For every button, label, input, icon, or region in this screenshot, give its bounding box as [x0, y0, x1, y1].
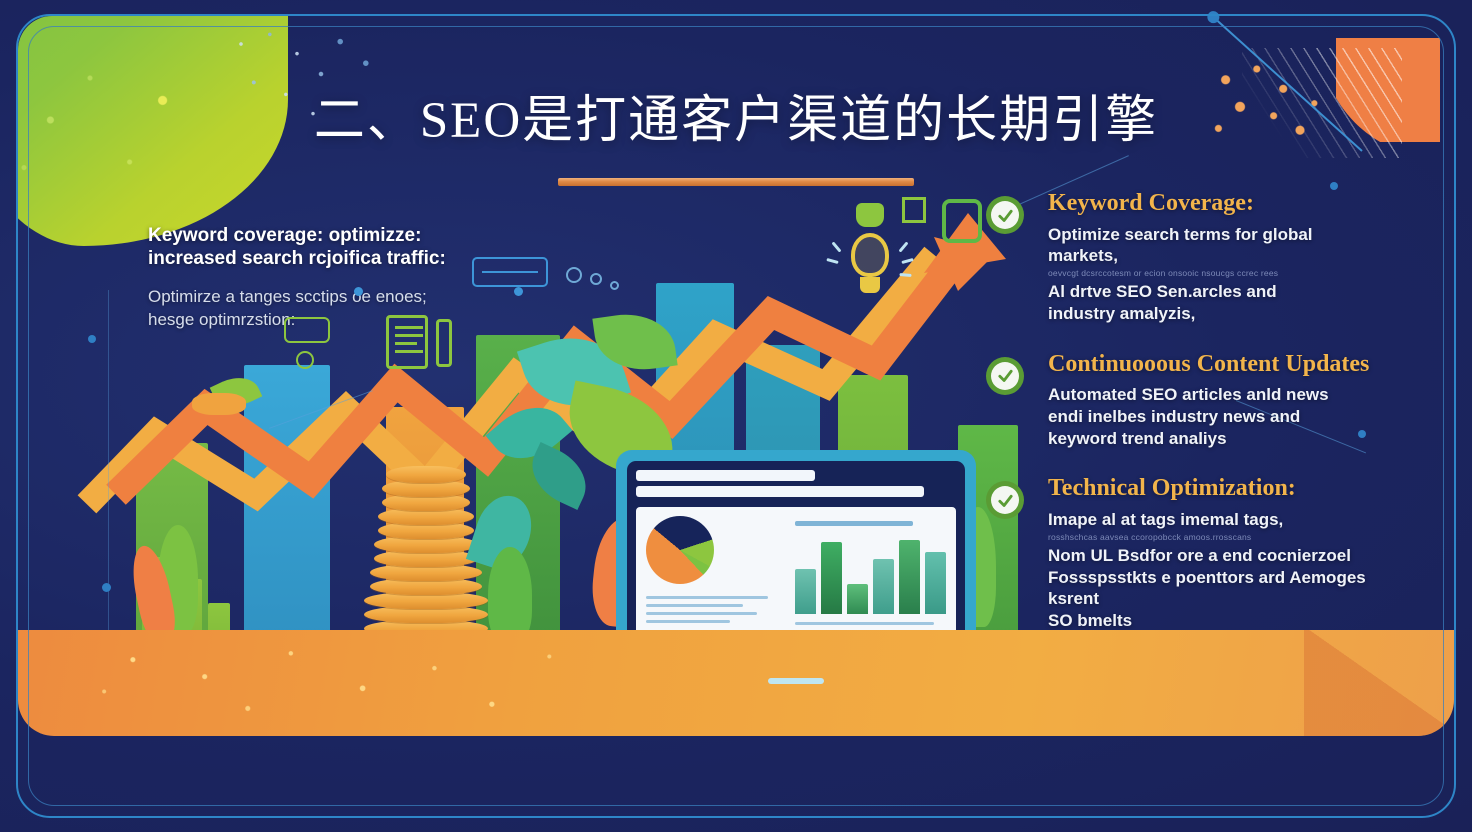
connector-dot [1330, 182, 1338, 190]
leaf-icon [192, 393, 246, 415]
bullet-line: Al drtve SEO Sen.arcles and [1048, 281, 1386, 303]
dashboard-pie-chart [646, 516, 714, 584]
connector-dot [354, 287, 363, 296]
bullet-micro-text: rosshschcas aavsea ccoropobcck amoos.rro… [1048, 532, 1386, 543]
dot-circle-icon [590, 273, 602, 285]
bullet-line: Fossspsstkts e poenttors ard Aemoges ksr… [1048, 567, 1386, 611]
bar-icon [436, 319, 452, 367]
check-circle-icon [986, 196, 1024, 234]
check-circle-icon [986, 357, 1024, 395]
bullet-title: Keyword Coverage: [1048, 190, 1386, 218]
bullet-line: keyword trend analiys [1048, 428, 1386, 450]
sparkle-icon [902, 197, 926, 223]
bullet-line: SO bmelts [1048, 610, 1386, 632]
page-title: 二、SEO是打通客户渠道的长期引擎 [0, 78, 1472, 152]
bullet-line: Automated SEO articles anld news [1048, 384, 1386, 406]
bullet-title: Technical Optimization: [1048, 475, 1386, 503]
bullet-line: Optimize search terms for global markets… [1048, 224, 1386, 268]
title-block: 二、SEO是打通客户渠道的长期引擎 [0, 78, 1472, 186]
plant-sprout-icon [856, 203, 884, 227]
dashboard-bar-chart [795, 536, 946, 614]
slide-canvas: 二、SEO是打通客户渠道的长期引擎 Keyword coverage: opti… [0, 0, 1472, 832]
connector-dot [88, 335, 96, 343]
bullet-item-keyword-coverage[interactable]: Keyword Coverage: Optimize search terms … [986, 190, 1386, 325]
bullet-line: endi inelbes industry news and [1048, 406, 1386, 428]
dot-circle-icon [610, 281, 619, 290]
magnifier-icon [566, 267, 582, 283]
leaf-icon [488, 547, 532, 643]
bullet-item-technical-optimization[interactable]: Technical Optimization: Imape al at tags… [986, 475, 1386, 631]
node-icon [296, 351, 314, 369]
bullet-line: Nom UL Bsdfor ore a end cocnierzoel [1048, 545, 1386, 567]
bottom-orange-band [18, 630, 1454, 736]
chat-bubble-icon [942, 199, 982, 243]
bullet-item-content-updates[interactable]: Continuooous Content Updates Automated S… [986, 351, 1386, 450]
bullet-micro-text: oevvcgt dcsrccotesm or ecion onsooic nso… [1048, 268, 1386, 279]
connector-dot [514, 287, 523, 296]
bullet-line: industry amalyzis, [1048, 303, 1386, 325]
connector-dot [102, 583, 111, 592]
seo-growth-illustration [96, 195, 1016, 675]
bullet-title: Continuooous Content Updates [1048, 351, 1386, 379]
bullet-list: Keyword Coverage: Optimize search terms … [986, 190, 1386, 658]
tag-icon [284, 317, 330, 343]
bullet-line: Imape al at tags imemal tags, [1048, 509, 1386, 531]
check-circle-icon [986, 481, 1024, 519]
title-divider [558, 178, 914, 186]
document-icon [386, 315, 428, 369]
lightbulb-icon [841, 233, 899, 303]
search-box-icon [472, 257, 548, 287]
